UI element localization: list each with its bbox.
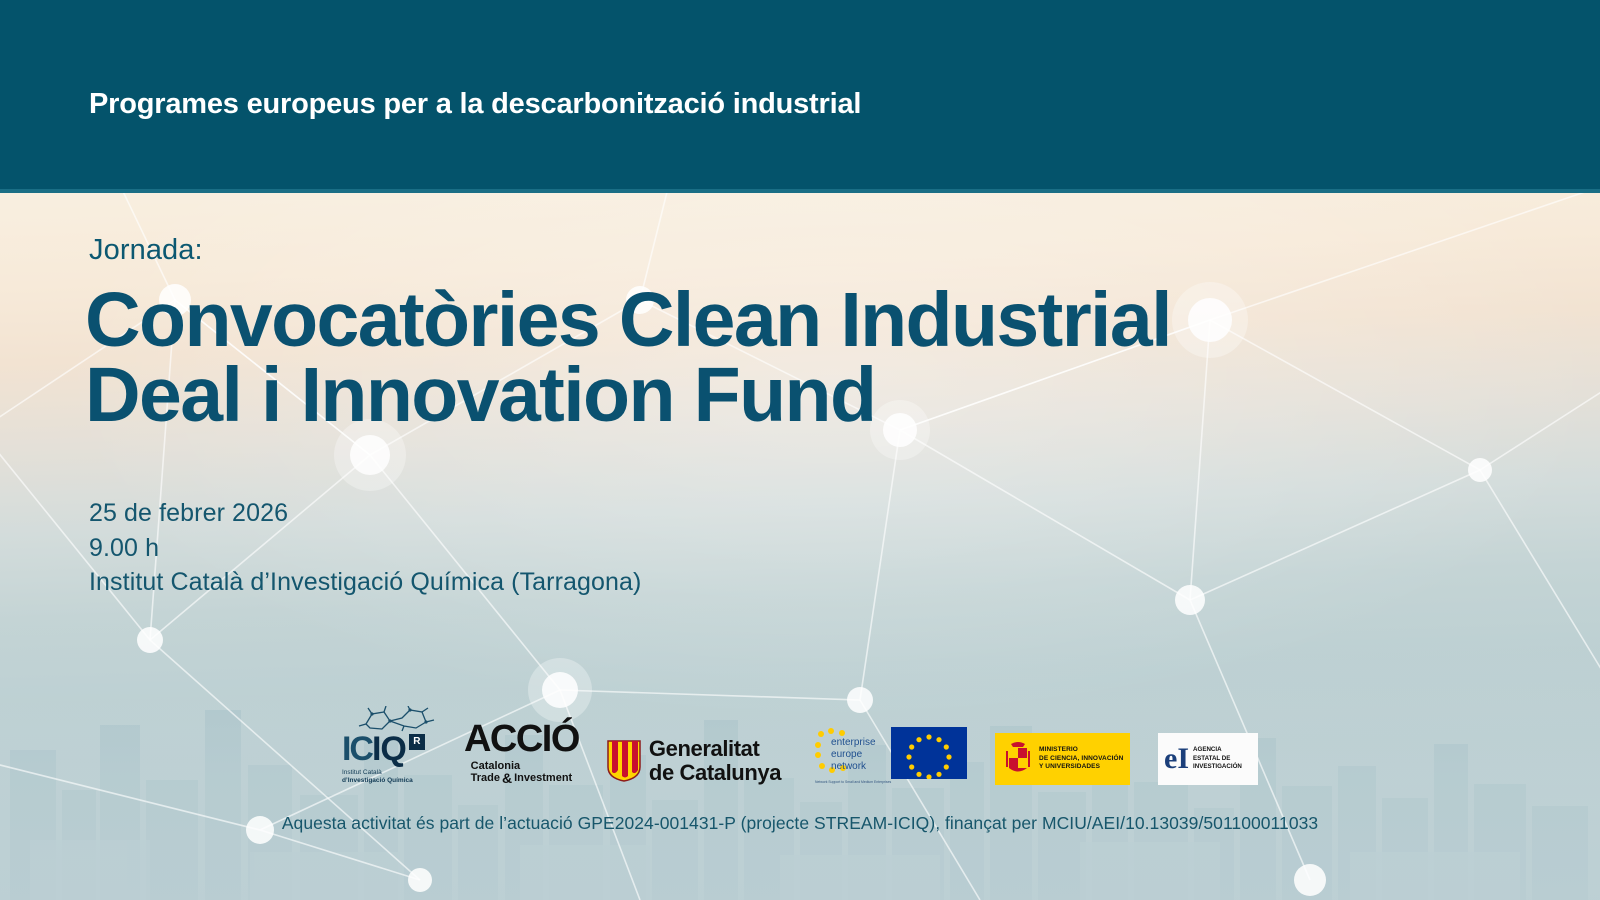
event-venue: Institut Català d’Investigació Química (… (89, 565, 641, 600)
accio-wordmark: ACCIÓ (464, 720, 579, 758)
enterprise-europe-network-logo: enterprise europe network Network Suppor… (809, 721, 967, 785)
registered-trademark-icon: R (409, 734, 425, 750)
aei-monogram-icon: eI (1164, 744, 1189, 774)
aei-wordmark: AGENCIA ESTATAL DE INVESTIGACIÓN (1193, 746, 1242, 773)
aei-logo: eI AGENCIA ESTATAL DE INVESTIGACIÓN (1158, 733, 1258, 785)
ministerio-wordmark: MINISTERIO DE CIENCIA, INNOVACIÓN Y UNIV… (1039, 746, 1123, 772)
event-poster: Programes europeus per a la descarbonitz… (0, 0, 1600, 900)
iciq-molecule-icon (358, 706, 436, 732)
generalitat-line2: de Catalunya (649, 761, 781, 785)
iciq-logo: IC IQ R Institut Català d’Investigació Q… (342, 706, 436, 785)
accio-subtitle-line1: Catalonia (471, 760, 573, 773)
accio-logo: ACCIÓ Catalonia Trade & Investment (464, 720, 579, 785)
een-line3: network (831, 761, 875, 773)
logo-strip: IC IQ R Institut Català d’Investigació Q… (0, 701, 1600, 785)
aei-line3: INVESTIGACIÓN (1193, 763, 1242, 772)
iciq-wordmark-part2: IQ (372, 732, 406, 766)
iciq-subtitle-line1: Institut Català (342, 769, 413, 777)
headline-line-2: Deal i Innovation Fund (85, 358, 1171, 433)
aei-line1: AGENCIA (1193, 746, 1242, 755)
ministerio-line2: DE CIENCIA, INNOVACIÓN (1039, 755, 1123, 764)
accio-subtitle-trade: Trade (471, 772, 500, 785)
poster-content: Jornada: Convocatòries Clean Industrial … (0, 193, 1600, 900)
page-title: Convocatòries Clean Industrial Deal i In… (85, 283, 1171, 432)
ministerio-line3: Y UNIVERSIDADES (1039, 763, 1123, 772)
een-line1: enterprise (831, 737, 875, 749)
een-line2: europe (831, 749, 875, 761)
iciq-subtitle-line2: d’Investigació Química (342, 777, 413, 784)
kicker-label: Jornada: (89, 234, 203, 267)
ministerio-logo: MINISTERIO DE CIENCIA, INNOVACIÓN Y UNIV… (995, 733, 1130, 785)
een-mark: enterprise europe network Network Suppor… (809, 721, 891, 785)
header-band: Programes europeus per a la descarbonitz… (0, 0, 1600, 193)
catalan-flag-shield-icon (607, 740, 641, 782)
spain-coat-of-arms-icon (1002, 739, 1034, 779)
event-details: 25 de febrer 2026 9.00 h Institut Català… (89, 496, 641, 600)
generalitat-wordmark: Generalitat de Catalunya (649, 737, 781, 785)
accio-subtitle-investment: Investment (514, 772, 572, 785)
ministerio-line1: MINISTERIO (1039, 746, 1123, 755)
funding-caption: Aquesta activitat és part de l’actuació … (0, 813, 1600, 834)
aei-box: eI AGENCIA ESTATAL DE INVESTIGACIÓN (1158, 733, 1258, 785)
een-footnote: Network Support to Small and Medium Ente… (815, 780, 891, 784)
iciq-wordmark-part1: IC (342, 732, 372, 766)
header-title: Programes europeus per a la descarbonitz… (89, 88, 861, 121)
headline-line-1: Convocatòries Clean Industrial (85, 283, 1171, 358)
event-time: 9.00 h (89, 531, 641, 566)
ampersand-icon: & (502, 772, 512, 785)
accio-subtitle: Catalonia Trade & Investment (471, 760, 573, 785)
iciq-subtitle: Institut Català d’Investigació Química (342, 769, 413, 785)
iciq-wordmark: IC IQ R (342, 732, 425, 766)
eu-flag-icon (891, 727, 967, 779)
een-wordmark: enterprise europe network (831, 737, 875, 774)
generalitat-logo: Generalitat de Catalunya (607, 737, 781, 785)
ministerio-box: MINISTERIO DE CIENCIA, INNOVACIÓN Y UNIV… (995, 733, 1130, 785)
generalitat-line1: Generalitat (649, 737, 781, 761)
event-date: 25 de febrer 2026 (89, 496, 641, 531)
